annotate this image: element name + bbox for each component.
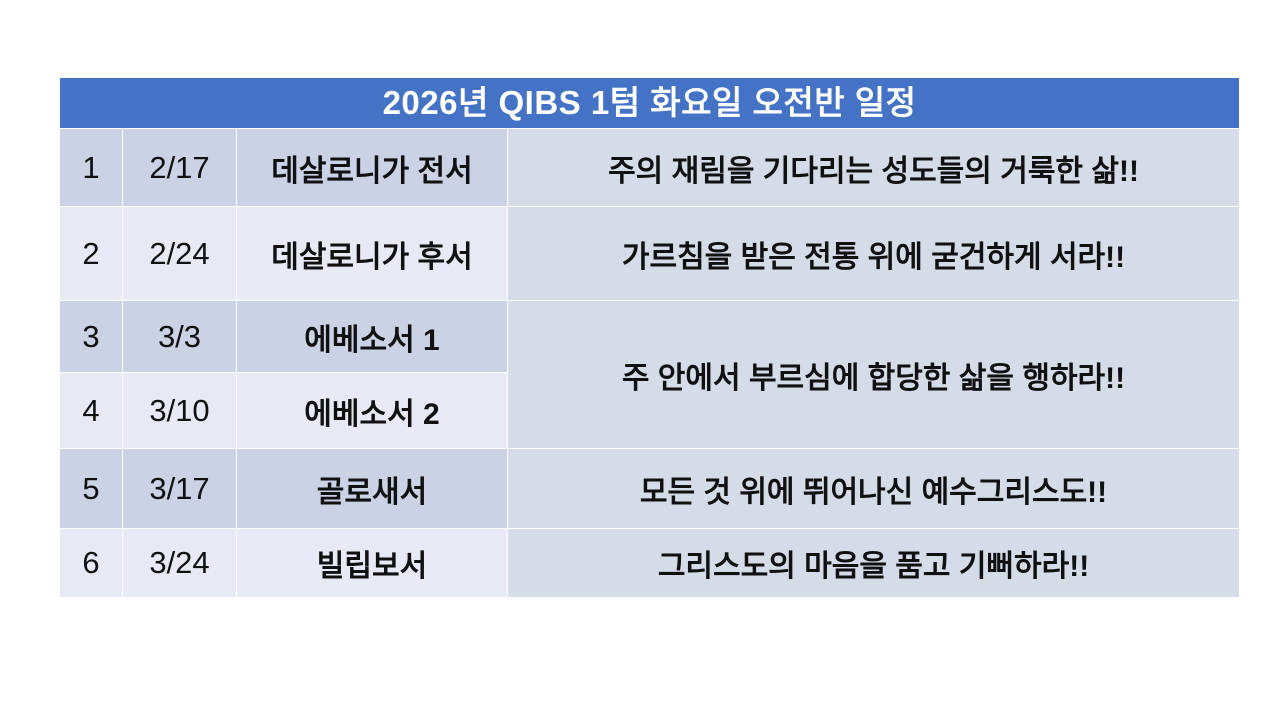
table-row: 2 2/24 데살로니가 후서 가르침을 받은 전통 위에 굳건하게 서라!! bbox=[60, 207, 1240, 301]
row-number: 4 bbox=[60, 373, 123, 449]
row-date: 2/17 bbox=[123, 129, 237, 207]
row-theme: 가르침을 받은 전통 위에 굳건하게 서라!! bbox=[508, 207, 1240, 301]
table-row: 1 2/17 데살로니가 전서 주의 재림을 기다리는 성도들의 거룩한 삶!! bbox=[60, 129, 1240, 207]
row-date: 3/17 bbox=[123, 449, 237, 529]
table-header: 2026년 QIBS 1텀 화요일 오전반 일정 bbox=[60, 78, 1240, 129]
row-book: 골로새서 bbox=[237, 449, 508, 529]
table-row: 6 3/24 빌립보서 그리스도의 마음을 품고 기뻐하라!! bbox=[60, 529, 1240, 598]
row-date: 3/3 bbox=[123, 301, 237, 373]
title-row: 2026년 QIBS 1텀 화요일 오전반 일정 bbox=[60, 78, 1240, 129]
table-row: 3 3/3 에베소서 1 주 안에서 부르심에 합당한 삶을 행하라!! bbox=[60, 301, 1240, 373]
row-number: 6 bbox=[60, 529, 123, 598]
row-book: 에베소서 2 bbox=[237, 373, 508, 449]
slide-canvas: 2026년 QIBS 1텀 화요일 오전반 일정 1 2/17 데살로니가 전서… bbox=[0, 0, 1280, 720]
table-body: 1 2/17 데살로니가 전서 주의 재림을 기다리는 성도들의 거룩한 삶!!… bbox=[60, 129, 1240, 598]
row-date: 2/24 bbox=[123, 207, 237, 301]
row-theme: 모든 것 위에 뛰어나신 예수그리스도!! bbox=[508, 449, 1240, 529]
row-book: 빌립보서 bbox=[237, 529, 508, 598]
row-number: 2 bbox=[60, 207, 123, 301]
page-title: 2026년 QIBS 1텀 화요일 오전반 일정 bbox=[60, 78, 1240, 129]
row-theme: 주의 재림을 기다리는 성도들의 거룩한 삶!! bbox=[508, 129, 1240, 207]
row-book: 데살로니가 후서 bbox=[237, 207, 508, 301]
row-number: 3 bbox=[60, 301, 123, 373]
row-date: 3/10 bbox=[123, 373, 237, 449]
row-theme-merged: 주 안에서 부르심에 합당한 삶을 행하라!! bbox=[508, 301, 1240, 449]
row-book: 데살로니가 전서 bbox=[237, 129, 508, 207]
table-row: 5 3/17 골로새서 모든 것 위에 뛰어나신 예수그리스도!! bbox=[60, 449, 1240, 529]
schedule-table: 2026년 QIBS 1텀 화요일 오전반 일정 1 2/17 데살로니가 전서… bbox=[59, 77, 1240, 598]
row-book: 에베소서 1 bbox=[237, 301, 508, 373]
row-theme: 그리스도의 마음을 품고 기뻐하라!! bbox=[508, 529, 1240, 598]
row-date: 3/24 bbox=[123, 529, 237, 598]
row-number: 5 bbox=[60, 449, 123, 529]
row-number: 1 bbox=[60, 129, 123, 207]
